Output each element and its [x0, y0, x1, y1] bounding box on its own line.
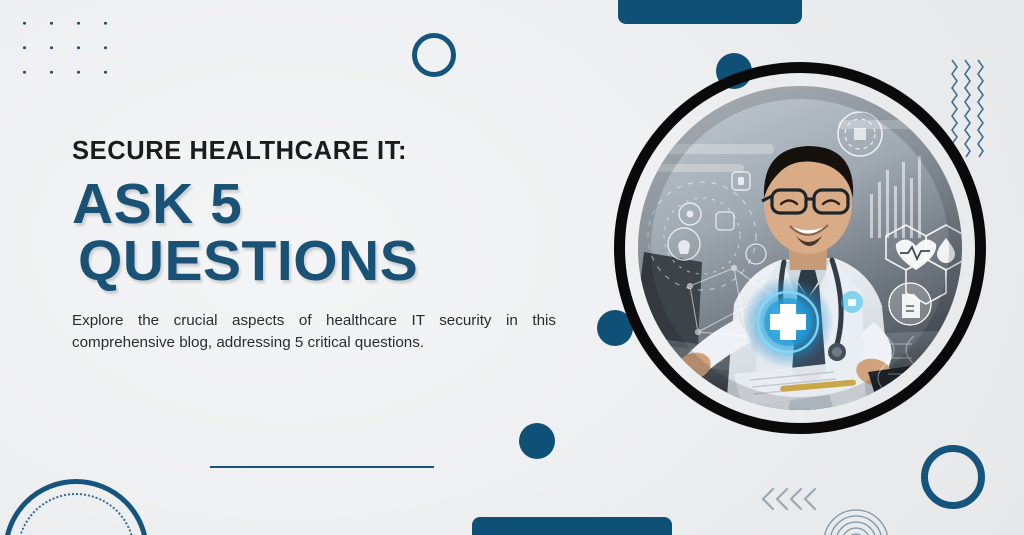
- blue-bar-bottom-decoration: [472, 517, 672, 535]
- concentric-arcs-decoration: [818, 498, 894, 535]
- outline-ring-bottom-right-decoration: [921, 445, 985, 509]
- page-title: ASK 5 QUESTIONS: [72, 176, 572, 290]
- headline-line-1: ASK 5: [72, 176, 572, 233]
- subtitle-text: Explore the crucial aspects of healthcar…: [72, 310, 556, 355]
- double-ring-bottom-left-inner-dotted: [17, 493, 135, 535]
- blue-underline-rule: [210, 466, 434, 468]
- blue-dot-bottom-middle-decoration: [519, 423, 555, 459]
- eyebrow-heading: SECURE HEALTHCARE IT:: [72, 136, 572, 166]
- banner-root: SECURE HEALTHCARE IT: ASK 5 QUESTIONS Ex…: [0, 0, 1024, 535]
- hero-photo: [614, 62, 986, 434]
- double-ring-bottom-left-outer: [3, 479, 149, 535]
- blue-bar-top-decoration: [618, 0, 802, 24]
- photo-outer-black-ring: [614, 62, 986, 434]
- text-block: SECURE HEALTHCARE IT: ASK 5 QUESTIONS Ex…: [72, 136, 572, 355]
- chevron-marks-decoration: [760, 486, 818, 512]
- outline-ring-top-decoration: [412, 33, 456, 77]
- dot-grid-decoration: [8, 8, 130, 88]
- headline-line-2: QUESTIONS: [78, 233, 572, 290]
